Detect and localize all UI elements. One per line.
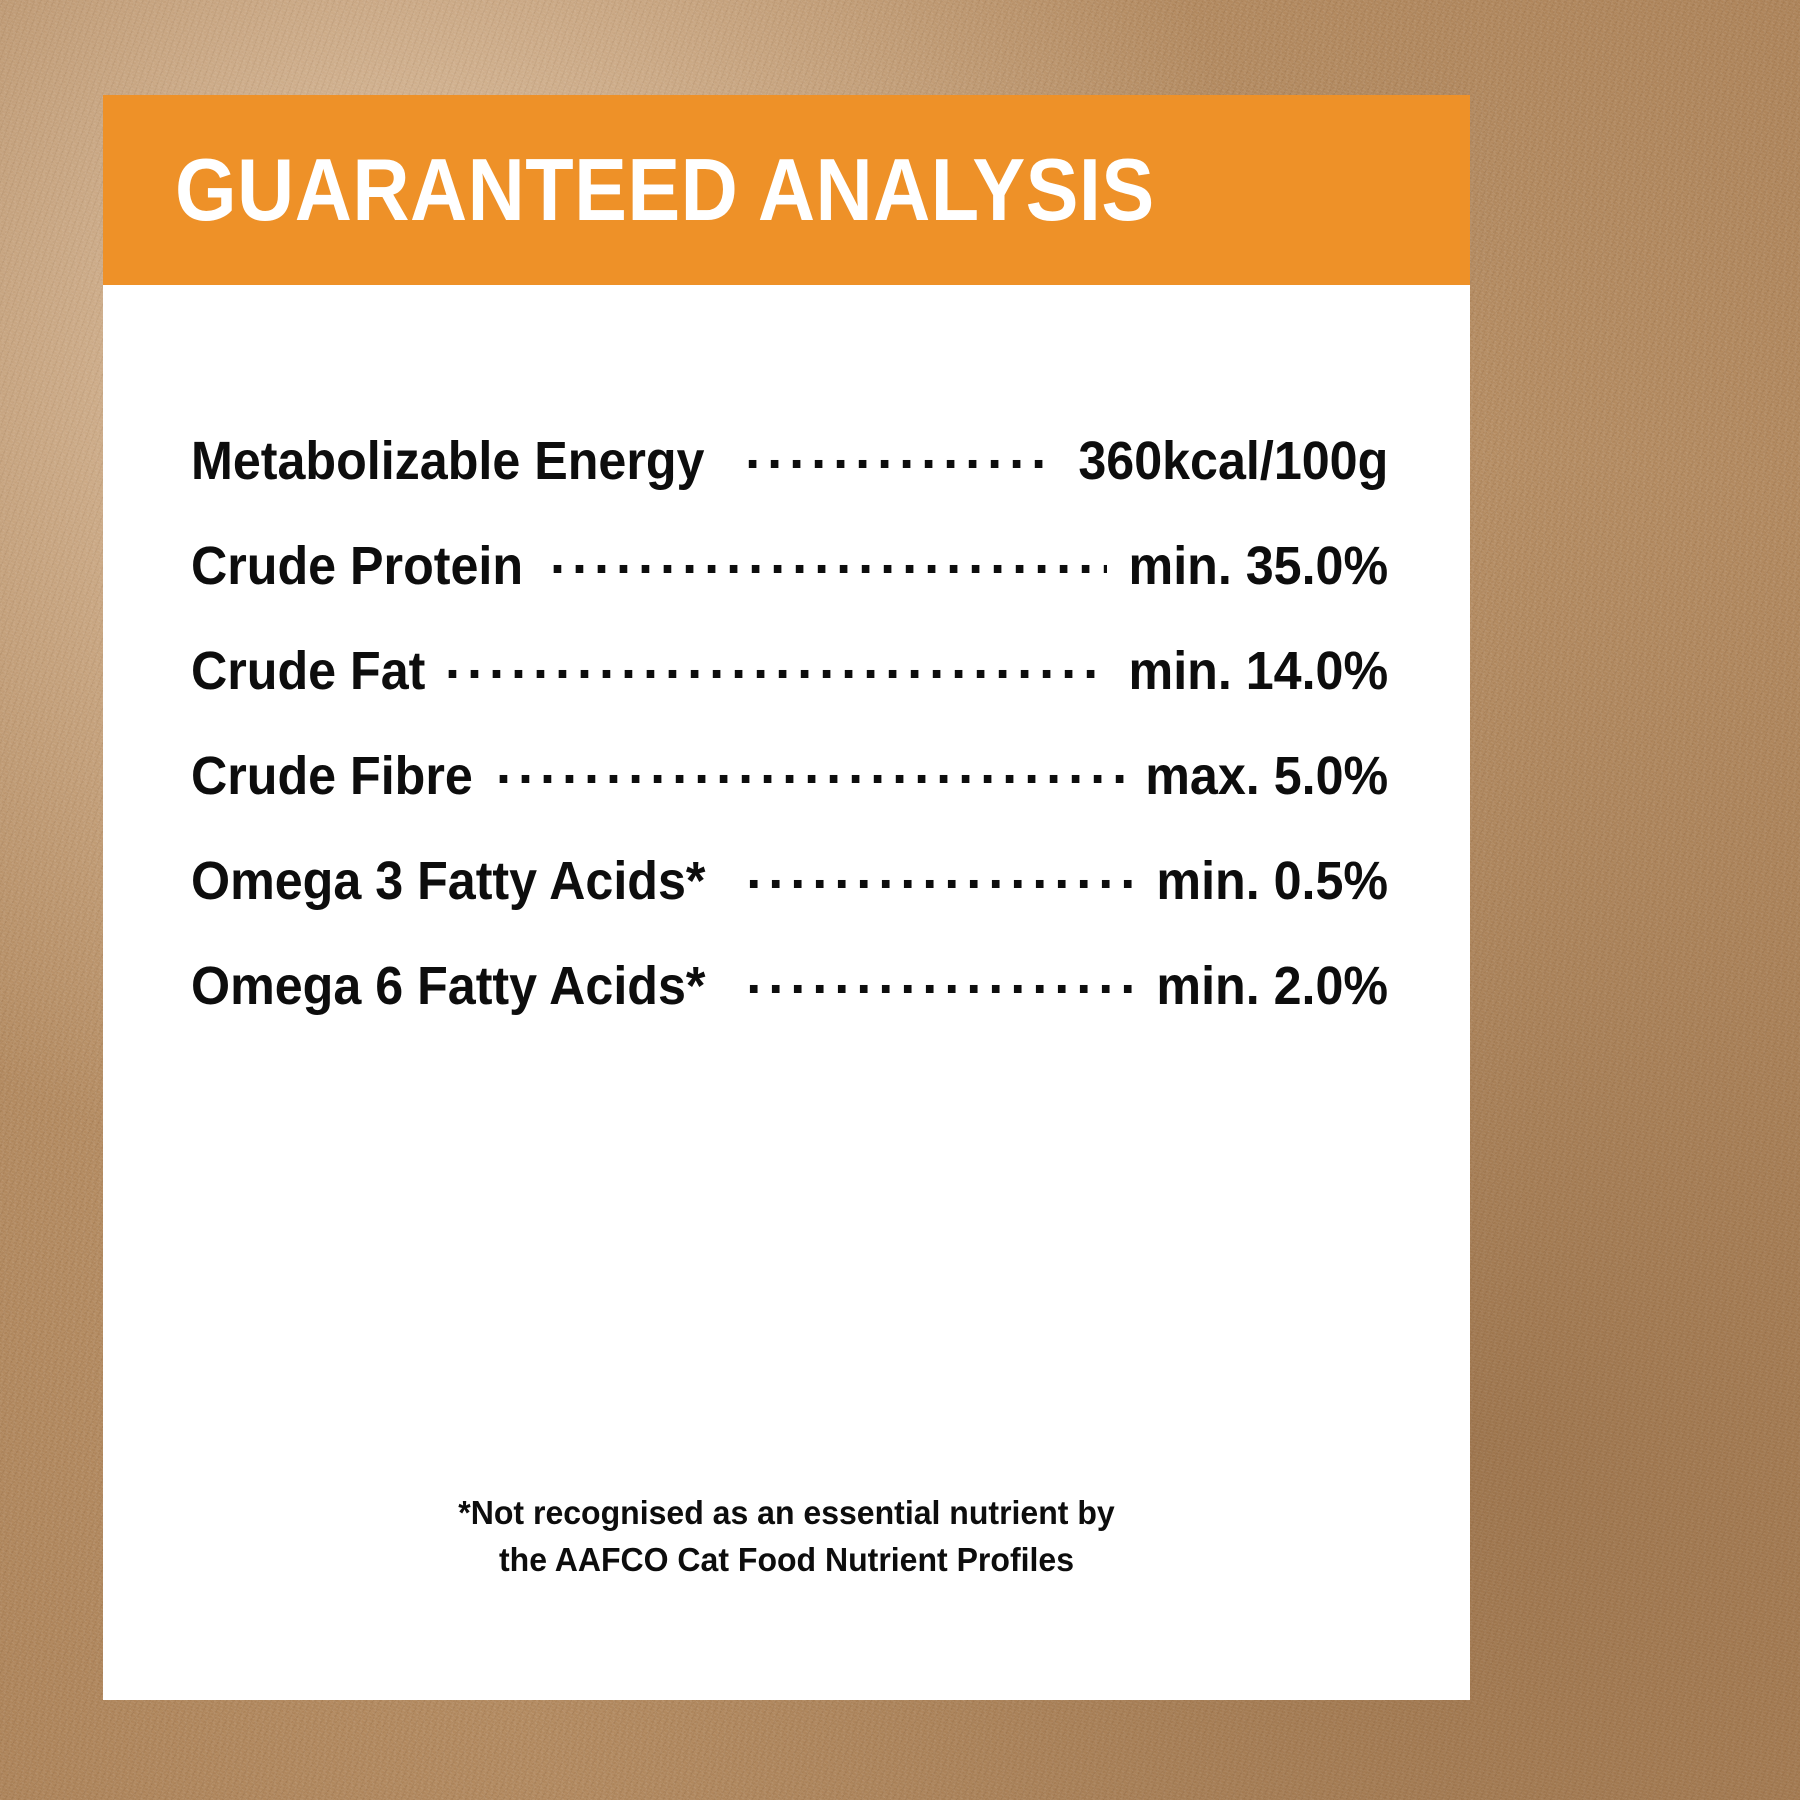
dot-leader xyxy=(496,740,1125,794)
nutrient-label: Crude Fat xyxy=(191,640,425,702)
page-title: GUARANTEED ANALYSIS xyxy=(175,146,1155,234)
nutrient-label: Omega 6 Fatty Acids* xyxy=(191,955,705,1017)
dot-leader xyxy=(445,635,1107,689)
nutrient-value: min. 0.5% xyxy=(1156,850,1388,912)
footnote-line-2: the AAFCO Cat Food Nutrient Profiles xyxy=(124,1537,1450,1584)
analysis-row-crude-protein: Crude Protein min. 35.0% xyxy=(191,530,1388,635)
analysis-row-crude-fat: Crude Fat min. 14.0% xyxy=(191,635,1388,740)
analysis-row-omega-3-fatty-acids: Omega 3 Fatty Acids* min. 0.5% xyxy=(191,845,1388,950)
nutrient-label: Metabolizable Energy xyxy=(191,430,704,492)
dot-leader xyxy=(745,425,1053,479)
analysis-rows: Metabolizable Energy 360kcal/100g Crude … xyxy=(191,425,1388,1055)
nutrient-label: Omega 3 Fatty Acids* xyxy=(191,850,705,912)
analysis-row-crude-fibre: Crude Fibre max. 5.0% xyxy=(191,740,1388,845)
dot-leader xyxy=(550,530,1107,584)
nutrient-value: min. 35.0% xyxy=(1128,535,1388,597)
nutrient-label: Crude Protein xyxy=(191,535,523,597)
analysis-row-omega-6-fatty-acids: Omega 6 Fatty Acids* min. 2.0% xyxy=(191,950,1388,1055)
dot-leader xyxy=(746,845,1137,899)
dot-leader xyxy=(746,950,1137,1004)
nutrient-value: min. 2.0% xyxy=(1156,955,1388,1017)
nutrient-label: Crude Fibre xyxy=(191,745,473,807)
panel-header-bar: GUARANTEED ANALYSIS xyxy=(103,95,1470,285)
footnote: *Not recognised as an essential nutrient… xyxy=(103,1490,1470,1584)
nutrient-value: 360kcal/100g xyxy=(1078,430,1388,492)
nutrient-value: min. 14.0% xyxy=(1128,640,1388,702)
nutrient-value: max. 5.0% xyxy=(1145,745,1388,807)
guaranteed-analysis-panel: GUARANTEED ANALYSIS Metabolizable Energy… xyxy=(103,95,1470,1700)
analysis-row-metabolizable-energy: Metabolizable Energy 360kcal/100g xyxy=(191,425,1388,530)
footnote-line-1: *Not recognised as an essential nutrient… xyxy=(124,1490,1450,1537)
